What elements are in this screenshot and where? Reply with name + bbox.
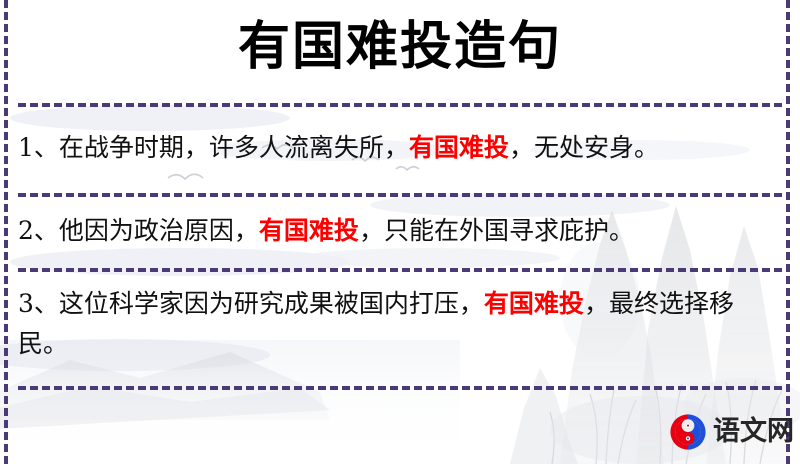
sentence-text-after-2: ，只能在外国寻求庇护。 [359, 216, 634, 245]
sentence-item-1: 1、在战争时期，许多人流离失所，有国难投，无处安身。 [0, 103, 800, 193]
sentence-number-2: 2、 [18, 216, 59, 245]
page-root: 有国难投造句 1、在战争时期，许多人流离失所，有国难投，无处安身。 2、他因为政… [0, 0, 800, 464]
divider-bottom [18, 386, 782, 390]
sentence-item-3: 3、这位科学家因为研究成果被国内打压，有国难投，最终选择移民。 [0, 268, 800, 386]
sentence-item-2: 2、他因为政治原因，有国难投，只能在外国寻求庇护。 [0, 193, 800, 268]
yinyang-circle-logo-icon [668, 412, 708, 452]
site-logo-text: 语文网 [713, 417, 794, 447]
page-title: 有国难投造句 [0, 16, 800, 78]
sentence-number-3: 3、 [18, 289, 59, 318]
highlight-idiom-2: 有国难投 [259, 216, 359, 245]
sentence-text-before-3: 这位科学家因为研究成果被国内打压， [59, 289, 484, 318]
sentence-number-1: 1、 [18, 133, 59, 162]
sentence-text-before-1: 在战争时期，许多人流离失所， [59, 133, 409, 162]
sentence-text-before-2: 他因为政治原因， [59, 216, 259, 245]
sentence-text-after-1: ，无处安身。 [509, 133, 659, 162]
sentence-list: 1、在战争时期，许多人流离失所，有国难投，无处安身。 2、他因为政治原因，有国难… [0, 103, 800, 386]
site-logo[interactable]: 语文网 [668, 412, 794, 452]
highlight-idiom-1: 有国难投 [409, 133, 509, 162]
highlight-idiom-3: 有国难投 [484, 289, 584, 318]
